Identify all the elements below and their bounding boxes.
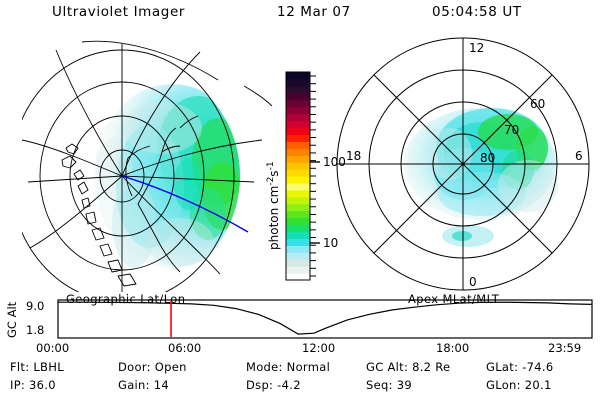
strip-ytick-low: 1.8 [26, 323, 44, 337]
colorbar-swatch [286, 176, 310, 184]
aurora-emission-apex [404, 108, 558, 247]
strip-xtick-0: 00:00 [36, 341, 69, 354]
colorbar-swatch [286, 148, 310, 156]
colorbar-swatch [286, 190, 310, 198]
strip-xtick-1: 06:00 [168, 341, 201, 354]
mlt-spokes [337, 38, 589, 290]
status-glat: GLat: -74.6 [486, 360, 553, 374]
status-ip: IP: 36.0 [10, 378, 56, 392]
colorbar-swatch [286, 93, 310, 101]
mlt-label-18: 18 [346, 149, 361, 163]
status-gc-alt: GC Alt: 8.2 Re [366, 360, 450, 374]
mlt-label-12: 12 [469, 41, 484, 55]
status-filter: Flt: LBHL [10, 360, 64, 374]
strip-plot-svg: GC Alt 9.0 1.8 00:00 06:00 12:00 18:00 2… [0, 292, 600, 354]
colorbar-swatch [286, 197, 310, 205]
apex-mlt-plot: 12 18 0 6 60 70 80 [332, 36, 594, 292]
colorbar-axis-label: photon cm-2s-1 [266, 161, 281, 250]
strip-xtick-4: 23:59 [548, 341, 581, 354]
strip-plot-frame [58, 300, 592, 338]
svg-text:photon cm-2s-1: photon cm-2s-1 [266, 161, 281, 250]
colorbar-swatch [286, 218, 310, 226]
colorbar-swatch [286, 231, 310, 239]
colorbar-swatch [286, 169, 310, 177]
colorbar-ticks [310, 76, 316, 276]
geographic-plot [22, 36, 272, 292]
mlt-label-0: 0 [469, 275, 477, 289]
colorbar-swatch [286, 107, 310, 115]
observation-date: 12 Mar 07 [277, 4, 351, 20]
status-door: Door: Open [118, 360, 187, 374]
colorbar-swatch [286, 86, 310, 94]
mlat-label-60: 60 [530, 97, 545, 111]
observation-time: 05:04:58 UT [432, 4, 522, 20]
geographic-plot-svg [22, 36, 272, 292]
strip-y-axis-title: GC Alt [5, 301, 19, 338]
apex-mlt-svg: 12 18 0 6 60 70 80 [332, 36, 594, 292]
colorbar-swatch [286, 134, 310, 142]
colorbar-swatch [286, 100, 310, 108]
colorbar-swatch [286, 141, 310, 149]
colorbar-swatch [286, 183, 310, 191]
gc-altitude-strip-plot: GC Alt 9.0 1.8 00:00 06:00 12:00 18:00 2… [0, 292, 600, 354]
colorbar-swatch [286, 204, 310, 212]
colorbar-swatch [286, 238, 310, 246]
colorbar-swatch [286, 225, 310, 233]
strip-ytick-high: 9.0 [26, 299, 44, 313]
cbar-label-sup1: -2 [266, 177, 276, 186]
gc-altitude-trace [58, 302, 592, 334]
colorbar-swatch [286, 273, 310, 281]
instrument-title: Ultraviolet Imager [52, 4, 185, 20]
status-block: Flt: LBHL Door: Open Mode: Normal GC Alt… [0, 360, 600, 400]
colorbar-swatch [286, 127, 310, 135]
cbar-label-main: photon cm [267, 186, 281, 250]
colorbar-swatch [286, 114, 310, 122]
header: Ultraviolet Imager 12 Mar 07 05:04:58 UT [0, 4, 600, 28]
status-glon: GLon: 20.1 [486, 378, 552, 392]
mlt-label-6: 6 [575, 149, 583, 163]
colorbar-swatch [286, 155, 310, 163]
colorbar-swatch [286, 266, 310, 274]
colorbar-swatch [286, 79, 310, 87]
status-seq: Seq: 39 [366, 378, 412, 392]
status-mode: Mode: Normal [246, 360, 330, 374]
cbar-label-sup2: -1 [266, 161, 276, 170]
colorbar-swatch [286, 259, 310, 267]
colorbar-swatches [286, 72, 310, 281]
status-dsp: Dsp: -4.2 [246, 378, 301, 392]
colorbar-swatch [286, 121, 310, 129]
mlat-label-70: 70 [504, 123, 519, 137]
status-gain: Gain: 14 [118, 378, 169, 392]
colorbar-swatch [286, 252, 310, 260]
strip-xtick-2: 12:00 [302, 341, 335, 354]
strip-xtick-3: 18:00 [436, 341, 469, 354]
uvi-image-root: Ultraviolet Imager 12 Mar 07 05:04:58 UT [0, 0, 600, 400]
colorbar-swatch [286, 162, 310, 170]
colorbar-swatch [286, 211, 310, 219]
mlat-label-80: 80 [480, 151, 495, 165]
colorbar-swatch [286, 72, 310, 80]
strip-x-tick-labels: 00:00 06:00 12:00 18:00 23:59 [36, 341, 581, 354]
colorbar-swatch [286, 245, 310, 253]
